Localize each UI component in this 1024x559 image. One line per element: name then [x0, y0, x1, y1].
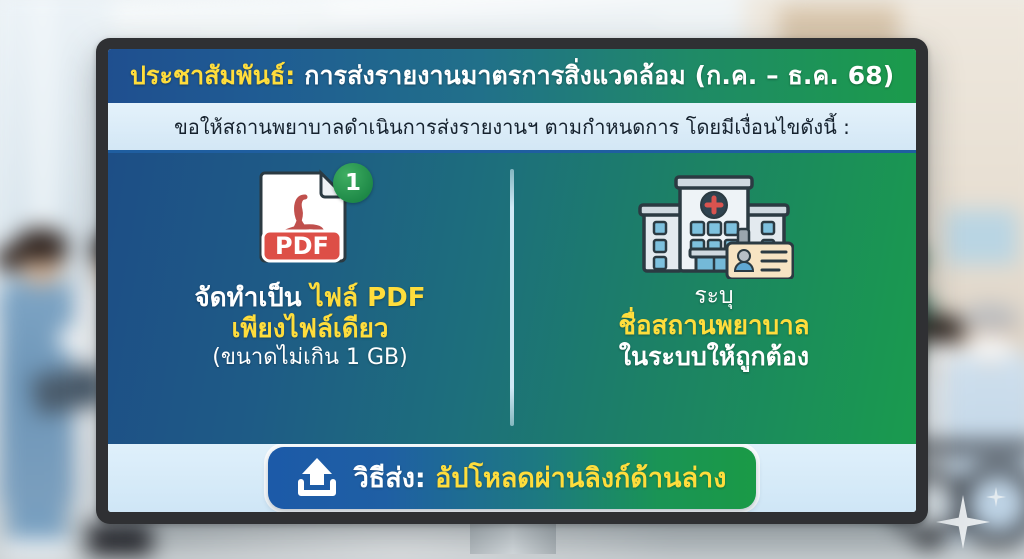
- pdf-line2: เพียงไฟล์เดียว: [195, 314, 426, 345]
- cta-highlight: อัปโหลดผ่านลิงก์ด้านล่าง: [435, 463, 726, 494]
- subtitle-bar: ขอให้สถานพยาบาลดำเนินการส่งรายงานฯ ตามกำ…: [108, 103, 916, 153]
- hospital-building-icon: [634, 167, 794, 275]
- monitor-display: ประชาสัมพันธ์: การส่งรายงานมาตรการสิ่งแว…: [96, 38, 928, 524]
- slide-screen: ประชาสัมพันธ์: การส่งรายงานมาตรการสิ่งแว…: [108, 49, 916, 512]
- pdf-line1: จัดทำเป็น ไฟล์ PDF: [195, 283, 426, 314]
- upload-cta-label: วิธีส่ง: อัปโหลดผ่านลิงก์ด้านล่าง: [354, 456, 727, 499]
- upload-icon: [294, 455, 340, 499]
- upload-cta-button[interactable]: วิธีส่ง: อัปโหลดผ่านลิงก์ด้านล่าง: [268, 447, 757, 509]
- header-rest: การส่งรายงานมาตรการสิ่งแวดล้อม (ก.ค. – ธ…: [295, 61, 894, 90]
- subtitle-text: ขอให้สถานพยาบาลดำเนินการส่งรายงานฯ ตามกำ…: [174, 111, 850, 143]
- cta-plain: วิธีส่ง:: [354, 463, 436, 494]
- slide-header: ประชาสัมพันธ์: การส่งรายงานมาตรการสิ่งแว…: [108, 49, 916, 103]
- svg-text:PDF: PDF: [275, 232, 329, 260]
- column-divider: [510, 169, 514, 426]
- slide-footer: วิธีส่ง: อัปโหลดผ่านลิงก์ด้านล่าง: [108, 444, 916, 512]
- column-pdf-requirement: 1 PDF จัดทำเป็น ไฟล์ PDF เพียงไฟล์เดียว …: [108, 153, 512, 444]
- pdf-file-icon: 1 PDF: [251, 167, 369, 275]
- monitor-stand: [470, 524, 556, 554]
- slide-body: 1 PDF จัดทำเป็น ไฟล์ PDF เพียงไฟล์เดียว …: [108, 153, 916, 444]
- page-title: ประชาสัมพันธ์: การส่งรายงานมาตรการสิ่งแว…: [130, 56, 894, 96]
- pdf-line3-size: (ขนาดไม่เกิน 1 GB): [195, 345, 426, 371]
- hospital-line3: ในระบบให้ถูกต้อง: [618, 342, 809, 372]
- hospital-requirement-label: ระบุ ชื่อสถานพยาบาล ในระบบให้ถูกต้อง: [618, 283, 809, 372]
- screenshot-stage: ประชาสัมพันธ์: การส่งรายงานมาตรการสิ่งแว…: [0, 0, 1024, 559]
- file-count-badge: 1: [333, 163, 373, 203]
- hospital-line1: ระบุ: [618, 283, 809, 311]
- hospital-line2: ชื่อสถานพยาบาล: [618, 311, 809, 342]
- pdf-requirement-label: จัดทำเป็น ไฟล์ PDF เพียงไฟล์เดียว (ขนาดไ…: [195, 283, 426, 372]
- header-highlight: ประชาสัมพันธ์:: [130, 61, 295, 90]
- pdf-line1-highlight: ไฟล์ PDF: [311, 283, 426, 313]
- column-hospital-requirement: ระบุ ชื่อสถานพยาบาล ในระบบให้ถูกต้อง: [512, 153, 916, 444]
- pdf-line1-plain: จัดทำเป็น: [195, 283, 311, 313]
- hospital-icon-svg: [634, 167, 794, 279]
